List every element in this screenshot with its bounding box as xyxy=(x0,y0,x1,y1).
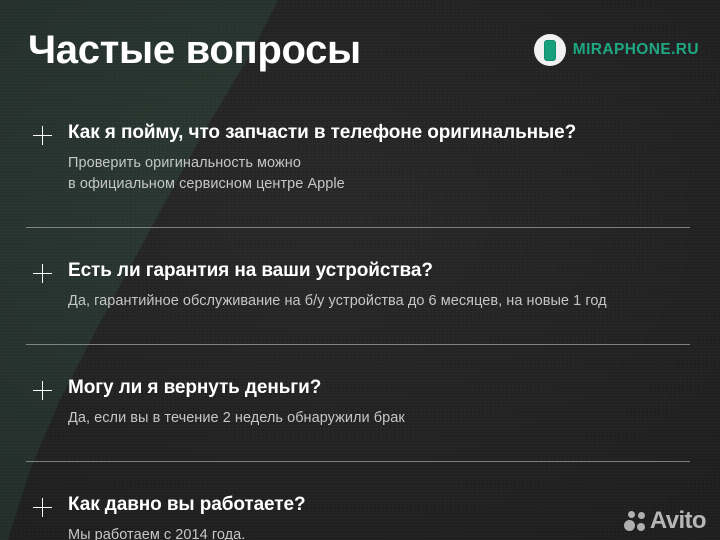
faq-divider xyxy=(26,461,690,462)
avito-label: Avito xyxy=(650,509,706,533)
faq-item-1[interactable]: Как я пойму, что запчасти в телефоне ори… xyxy=(0,120,720,195)
plus-icon[interactable] xyxy=(33,381,52,400)
faq-answer: Проверить оригинальность можно в официал… xyxy=(68,153,720,195)
faq-slide: Частые вопросы MIRAPHONE.RU Как я пойму,… xyxy=(0,0,720,540)
faq-question: Как я пойму, что запчасти в телефоне ори… xyxy=(68,120,576,146)
faq-item-3[interactable]: Могу ли я вернуть деньги? Да, если вы в … xyxy=(0,375,720,429)
faq-question-row[interactable]: Как давно вы работаете? xyxy=(0,492,720,518)
slide-content: Частые вопросы MIRAPHONE.RU Как я пойму,… xyxy=(0,0,720,540)
phone-icon xyxy=(534,34,566,66)
faq-divider xyxy=(26,344,690,345)
phone-icon-body xyxy=(544,40,556,61)
spacer xyxy=(0,345,720,375)
faq-question-row[interactable]: Есть ли гарантия на ваши устройства? xyxy=(0,258,720,284)
faq-question-row[interactable]: Как я пойму, что запчасти в телефоне ори… xyxy=(0,120,720,146)
faq-item-2[interactable]: Есть ли гарантия на ваши устройства? Да,… xyxy=(0,258,720,312)
faq-answer: Да, гарантийное обслуживание на б/у устр… xyxy=(68,291,720,312)
faq-question: Как давно вы работаете? xyxy=(68,492,305,518)
faq-question: Есть ли гарантия на ваши устройства? xyxy=(68,258,433,284)
spacer xyxy=(0,312,720,344)
brand-logo: MIRAPHONE.RU xyxy=(534,34,699,66)
faq-answer: Мы работаем с 2014 года. Более 500 отзыв… xyxy=(68,525,720,540)
spacer xyxy=(0,462,720,492)
avito-dots-icon xyxy=(624,511,647,531)
plus-icon[interactable] xyxy=(33,264,52,283)
brand-name: MIRAPHONE.RU xyxy=(573,41,699,59)
plus-icon[interactable] xyxy=(33,126,52,145)
faq-question: Могу ли я вернуть деньги? xyxy=(68,375,321,401)
plus-icon[interactable] xyxy=(33,498,52,517)
faq-list: Как я пойму, что запчасти в телефоне ори… xyxy=(0,120,720,540)
avito-watermark: Avito xyxy=(624,509,706,533)
faq-divider xyxy=(26,227,690,228)
spacer xyxy=(0,195,720,227)
faq-answer: Да, если вы в течение 2 недель обнаружил… xyxy=(68,408,720,429)
spacer xyxy=(0,429,720,461)
faq-item-4[interactable]: Как давно вы работаете? Мы работаем с 20… xyxy=(0,492,720,540)
spacer xyxy=(0,228,720,258)
faq-question-row[interactable]: Могу ли я вернуть деньги? xyxy=(0,375,720,401)
page-title: Частые вопросы xyxy=(28,26,361,74)
